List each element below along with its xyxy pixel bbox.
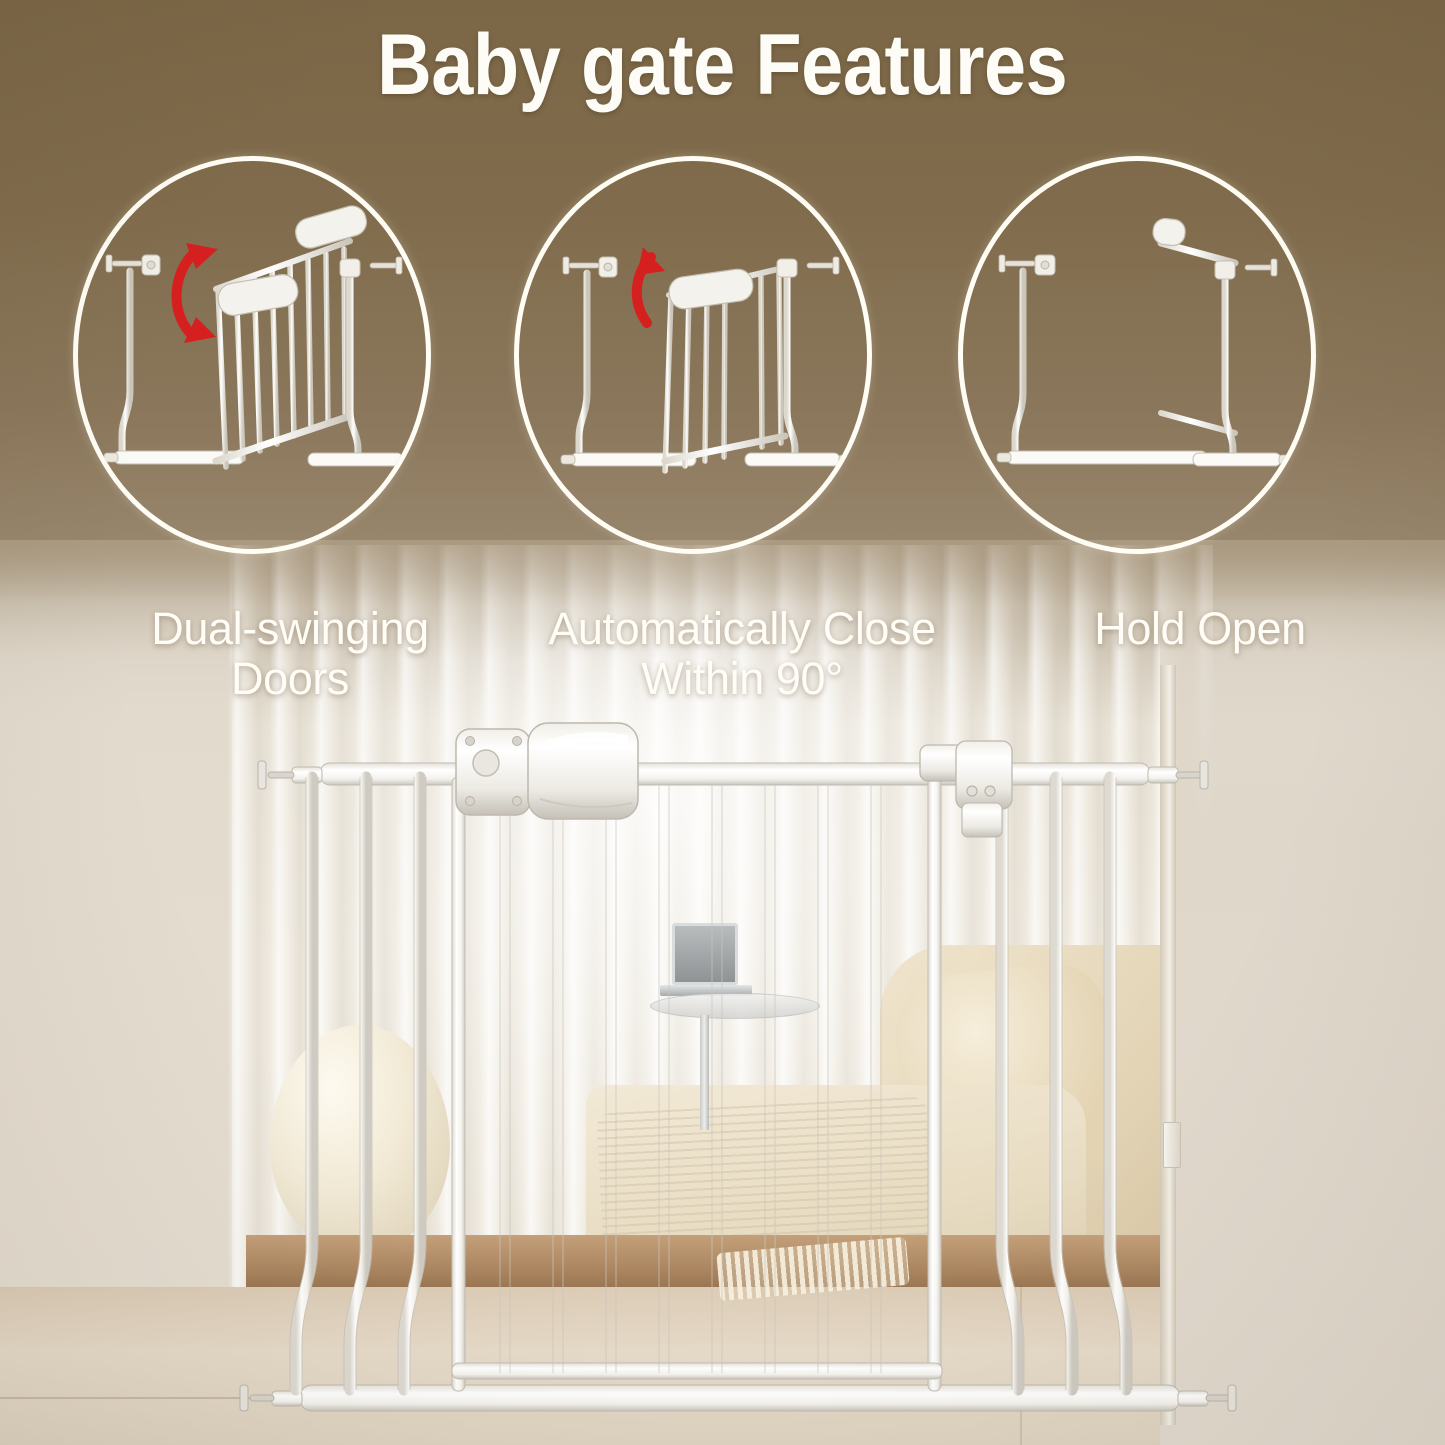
gate-left-post — [1015, 261, 1043, 461]
gate-left-post — [122, 261, 150, 461]
caption-line-2: Within 90° — [482, 654, 1002, 704]
dual-swing-arrow-icon — [177, 243, 218, 343]
caption-line-1: Hold Open — [1000, 604, 1400, 654]
caption-line-2: Doors — [95, 654, 485, 704]
feature-circle-hold-open — [958, 156, 1316, 554]
feature-circle-automatically-close — [514, 156, 872, 554]
gate-right-post — [787, 265, 807, 463]
caption-line-1: Automatically Close — [482, 604, 1002, 654]
gate-right-post — [350, 265, 370, 461]
door-handle-upper — [292, 203, 369, 252]
caption-line-1: Dual-swinging — [95, 604, 485, 654]
feature-captions: Dual-swinging Doors Automatically Close … — [0, 598, 1445, 718]
product-feature-graphic: Baby gate Features — [0, 0, 1445, 1445]
illustration-dual-swinging-doors — [78, 161, 426, 549]
illustration-hold-open — [963, 161, 1311, 549]
wall-mount-bolt-bottom-right — [1178, 1385, 1236, 1411]
page-title: Baby gate Features — [377, 22, 1067, 108]
caption-dual-swinging-doors: Dual-swinging Doors — [95, 604, 485, 705]
door-handle-lower — [216, 272, 300, 317]
gate-latch-housing — [456, 729, 530, 815]
gate-left-post — [579, 263, 607, 463]
header: Baby gate Features — [0, 0, 1445, 130]
caption-automatically-close: Automatically Close Within 90° — [482, 604, 1002, 705]
gate-right-extension-bars — [1002, 777, 1126, 1390]
feature-circles-row — [0, 138, 1445, 568]
door-handle — [1152, 217, 1187, 246]
wall-mount-bolt-top-right — [1148, 761, 1208, 789]
illustration-automatically-close — [519, 161, 867, 549]
gate-handle — [528, 723, 638, 819]
feature-circle-dual-swinging-doors — [73, 156, 431, 554]
auto-close-arrow-icon — [637, 247, 665, 323]
gate-door-bars — [505, 783, 876, 1373]
gate-left-extension-bars — [296, 777, 420, 1390]
caption-hold-open: Hold Open — [1000, 604, 1400, 654]
